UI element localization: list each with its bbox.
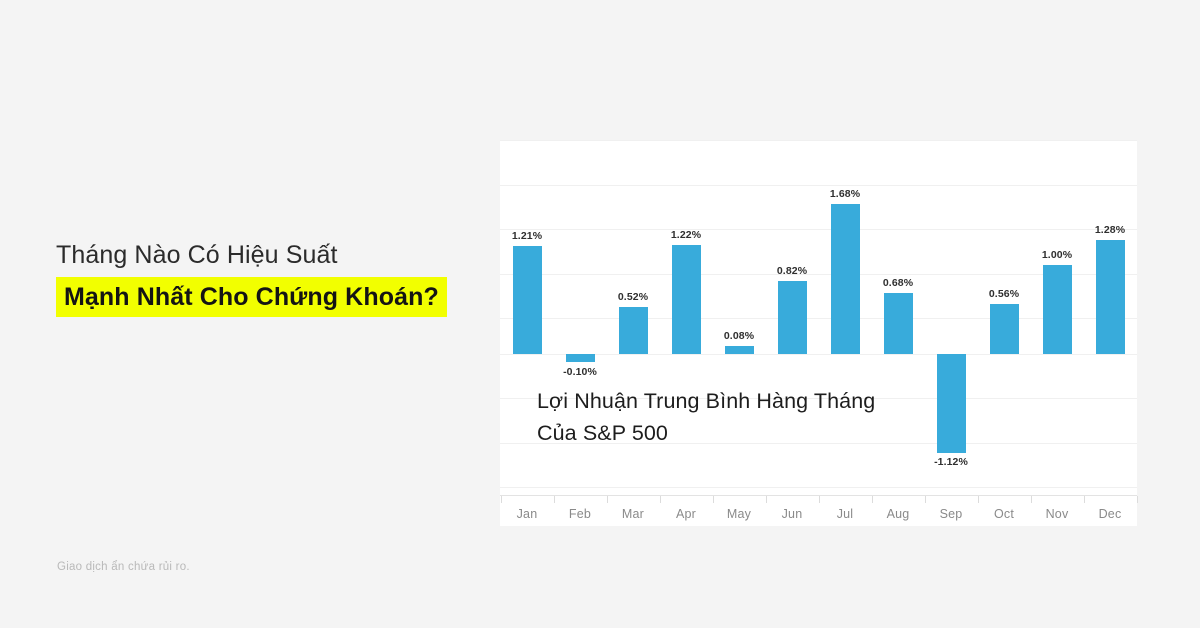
bar-group[interactable]: 0.56% [978, 140, 1031, 496]
bar[interactable] [672, 245, 701, 354]
month-label-nov: Nov [1031, 507, 1084, 521]
bar[interactable] [990, 304, 1019, 354]
month-label-jul: Jul [819, 507, 872, 521]
headline-line-1: Tháng Nào Có Hiệu Suất [56, 238, 486, 272]
bar[interactable] [884, 293, 913, 354]
bar[interactable] [513, 246, 542, 354]
bar-value-label: 0.56% [971, 288, 1038, 300]
bar-group[interactable]: 1.00% [1031, 140, 1084, 496]
bar[interactable] [1096, 240, 1125, 354]
chart-caption: Lợi Nhuận Trung Bình Hàng Tháng Của S&P … [537, 385, 957, 449]
page-title: Tháng Nào Có Hiệu Suất Mạnh Nhất Cho Chứ… [56, 238, 486, 317]
headline-line-2-wrapper: Mạnh Nhất Cho Chứng Khoán? [56, 277, 486, 317]
bar-value-label: 0.52% [600, 291, 667, 303]
month-label-apr: Apr [660, 507, 713, 521]
bar[interactable] [619, 307, 648, 353]
bar-value-label: 1.68% [812, 188, 879, 200]
headline-line-2-highlighted: Mạnh Nhất Cho Chứng Khoán? [56, 277, 447, 317]
bar[interactable] [778, 281, 807, 354]
axis-tick [660, 496, 661, 503]
axis-tick [925, 496, 926, 503]
x-axis: JanFebMarAprMayJunJulAugSepOctNovDec [500, 496, 1137, 526]
bar[interactable] [1043, 265, 1072, 354]
month-label-sep: Sep [925, 507, 978, 521]
month-label-jan: Jan [501, 507, 554, 521]
axis-tick [872, 496, 873, 503]
month-label-oct: Oct [978, 507, 1031, 521]
axis-tick [501, 496, 502, 503]
axis-tick [1084, 496, 1085, 503]
bar-value-label: 0.82% [759, 265, 826, 277]
axis-tick [554, 496, 555, 503]
axis-tick [713, 496, 714, 503]
editorial-panel: Tháng Nào Có Hiệu Suất Mạnh Nhất Cho Chứ… [0, 0, 500, 628]
bar[interactable] [725, 346, 754, 353]
bar-value-label: 1.28% [1077, 224, 1144, 236]
month-label-feb: Feb [554, 507, 607, 521]
bar-value-label: 1.22% [653, 229, 720, 241]
month-label-aug: Aug [872, 507, 925, 521]
month-label-dec: Dec [1084, 507, 1137, 521]
bar-value-label: -0.10% [547, 366, 614, 378]
disclaimer-text: Giao dịch ẩn chứa rủi ro. [57, 561, 190, 573]
chart-caption-line-1: Lợi Nhuận Trung Bình Hàng Tháng [537, 385, 957, 417]
axis-tick [607, 496, 608, 503]
bar-group[interactable]: 1.28% [1084, 140, 1137, 496]
axis-tick [1137, 496, 1138, 503]
month-label-mar: Mar [607, 507, 660, 521]
bar-value-label: 1.21% [494, 230, 561, 242]
bar-value-label: 0.08% [706, 330, 773, 342]
bar-value-label: 0.68% [865, 277, 932, 289]
month-label-may: May [713, 507, 766, 521]
axis-tick [1031, 496, 1032, 503]
chart-caption-line-2: Của S&P 500 [537, 417, 957, 449]
axis-tick [978, 496, 979, 503]
chart-panel: 1.21%-0.10%0.52%1.22%0.08%0.82%1.68%0.68… [500, 140, 1137, 526]
bar[interactable] [831, 204, 860, 354]
bar[interactable] [566, 354, 595, 363]
month-label-jun: Jun [766, 507, 819, 521]
bar-value-label: -1.12% [918, 456, 985, 468]
axis-tick [819, 496, 820, 503]
axis-tick [766, 496, 767, 503]
bar-value-label: 1.00% [1024, 249, 1091, 261]
